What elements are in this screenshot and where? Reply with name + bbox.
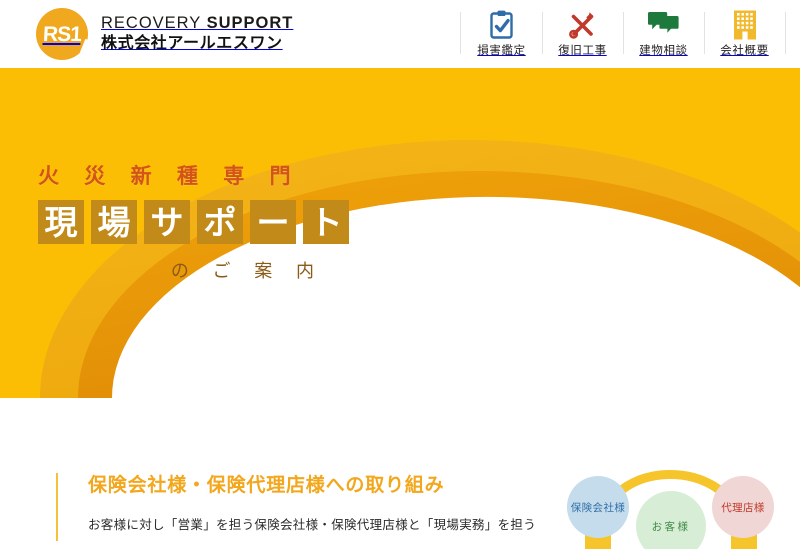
nav-item-kaisha-gaiyo[interactable]: 会社概要	[704, 3, 785, 71]
stakeholder-diagram: 保険会社様 お客様 代理店様	[555, 455, 800, 549]
hero-title-char: 現	[38, 200, 84, 244]
nav-label-fukkyu-koji: 復旧工事	[558, 42, 606, 58]
nav-item-songai-kantei[interactable]: 損害鑑定	[461, 3, 542, 71]
page-root: RS1 RECOVERY SUPPORT 株式会社アールエスワン 損害鑑定	[0, 0, 800, 549]
initiatives-block: 保険会社様・保険代理店様への取り組み お客様に対し「営業」を担う保険会社様・保険…	[56, 470, 556, 537]
brand-name-jp: 株式会社アールエスワン	[101, 33, 283, 52]
hero-title-char: ー	[250, 200, 296, 244]
speech-bubbles-icon	[648, 9, 679, 41]
hero-banner: 火 災 新 種 専 門 現 場 サ ポ ー ト の ご 案 内	[0, 68, 800, 398]
heading-accent-bar	[56, 473, 58, 541]
hero-copy: 火 災 新 種 専 門 現 場 サ ポ ー ト の ご 案 内	[38, 160, 349, 283]
brand-name-en-2: SUPPORT	[207, 14, 294, 32]
nav-label-songai-kantei: 損害鑑定	[477, 42, 525, 58]
section-body-text: お客様に対し「営業」を担う保険会社様・保険代理店様と「現場実務」を担う	[88, 513, 556, 537]
rs1-logo-mark: RS1	[36, 8, 88, 60]
brand-name-en-1: RECOVERY	[101, 14, 207, 32]
clipboard-check-icon	[488, 9, 515, 41]
nav-label-kaisha-gaiyo: 会社概要	[720, 42, 768, 58]
building-icon	[733, 9, 757, 41]
hero-title-char: 場	[91, 200, 137, 244]
brand-name-en: RECOVERY SUPPORT	[101, 14, 293, 32]
site-logo-link[interactable]: RS1 RECOVERY SUPPORT 株式会社アールエスワン	[36, 8, 460, 60]
diagram-label-insurer: 保険会社様	[560, 500, 636, 515]
nav-item-fukkyu-koji[interactable]: 復旧工事	[542, 3, 623, 71]
hero-title-char: ト	[303, 200, 349, 244]
rs1-logo-text: RS1	[43, 24, 82, 45]
section-heading: 保険会社様・保険代理店様への取り組み	[88, 470, 556, 497]
wrench-screwdriver-icon	[568, 9, 597, 41]
nav-item-tatemono-sodan[interactable]: 建物相談	[623, 3, 704, 71]
brand-text: RECOVERY SUPPORT 株式会社アールエスワン	[101, 14, 460, 54]
main-nav: 損害鑑定 復旧工事	[460, 3, 786, 65]
hero-title: 現 場 サ ポ ー ト	[38, 200, 349, 244]
nav-label-tatemono-sodan: 建物相談	[639, 42, 687, 58]
site-header: RS1 RECOVERY SUPPORT 株式会社アールエスワン 損害鑑定	[0, 0, 800, 68]
hero-subtitle: の ご 案 内	[38, 257, 323, 283]
hero-title-char: ポ	[197, 200, 243, 244]
hero-title-char: サ	[144, 200, 190, 244]
hero-eyebrow: 火 災 新 種 専 門	[38, 160, 349, 190]
nav-divider-end	[785, 12, 786, 54]
diagram-label-agency: 代理店様	[707, 500, 779, 515]
diagram-label-customer: お客様	[633, 519, 709, 534]
